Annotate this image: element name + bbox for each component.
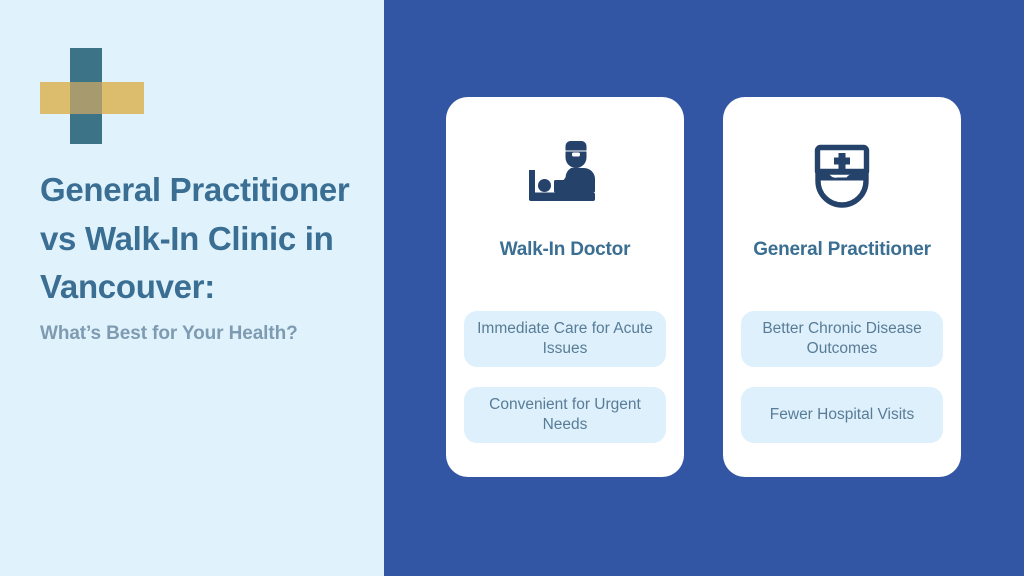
page-title: General Practitioner vs Walk-In Clinic i… xyxy=(40,166,370,312)
feature-pill[interactable]: Fewer Hospital Visits xyxy=(741,387,943,443)
infographic-canvas: General Practitioner vs Walk-In Clinic i… xyxy=(0,0,1024,576)
card-title: Walk-In Doctor xyxy=(460,237,670,263)
doctor-examining-patient-in-bed-icon xyxy=(446,127,684,225)
page-subtitle: What’s Best for Your Health? xyxy=(40,321,370,347)
card-walk-in-doctor[interactable]: Walk-In Doctor Immediate Care for Acute … xyxy=(446,97,684,477)
feature-pill-list: Better Chronic Disease Outcomes Fewer Ho… xyxy=(741,311,943,443)
medical-cross-swoosh-logo-icon xyxy=(40,48,144,144)
card-general-practitioner[interactable]: General Practitioner Better Chronic Dise… xyxy=(723,97,961,477)
feature-pill[interactable]: Immediate Care for Acute Issues xyxy=(464,311,666,367)
card-title: General Practitioner xyxy=(737,237,947,263)
feature-pill[interactable]: Better Chronic Disease Outcomes xyxy=(741,311,943,367)
feature-pill[interactable]: Convenient for Urgent Needs xyxy=(464,387,666,443)
title-block: General Practitioner vs Walk-In Clinic i… xyxy=(40,166,370,347)
feature-pill-list: Immediate Care for Acute Issues Convenie… xyxy=(464,311,666,443)
nurse-cap-with-cross-icon xyxy=(723,127,961,225)
left-panel: General Practitioner vs Walk-In Clinic i… xyxy=(0,0,384,576)
